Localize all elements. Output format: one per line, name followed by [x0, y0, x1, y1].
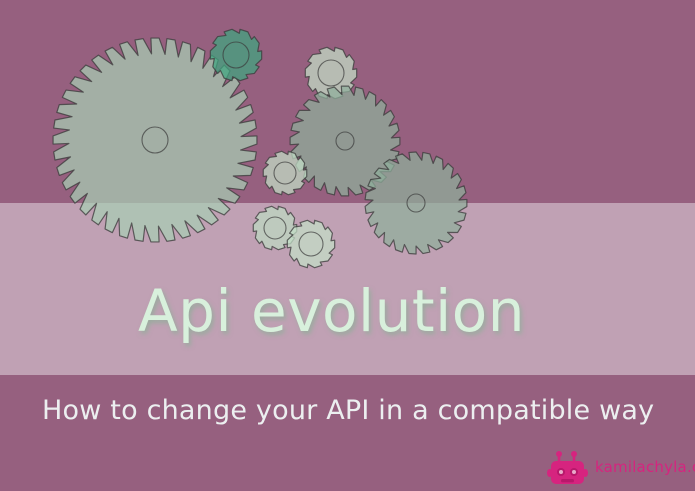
site-logo-text: kamilachyla.com — [595, 458, 695, 476]
background-band-top — [0, 0, 695, 203]
slide-title: Api evolution — [138, 282, 525, 340]
presentation-title-slide: Api evolution How to change your API in … — [0, 0, 695, 491]
site-logo[interactable]: kamilachyla.com — [547, 450, 695, 484]
slide-subtitle: How to change your API in a compatible w… — [42, 396, 654, 426]
robot-icon — [547, 450, 589, 484]
